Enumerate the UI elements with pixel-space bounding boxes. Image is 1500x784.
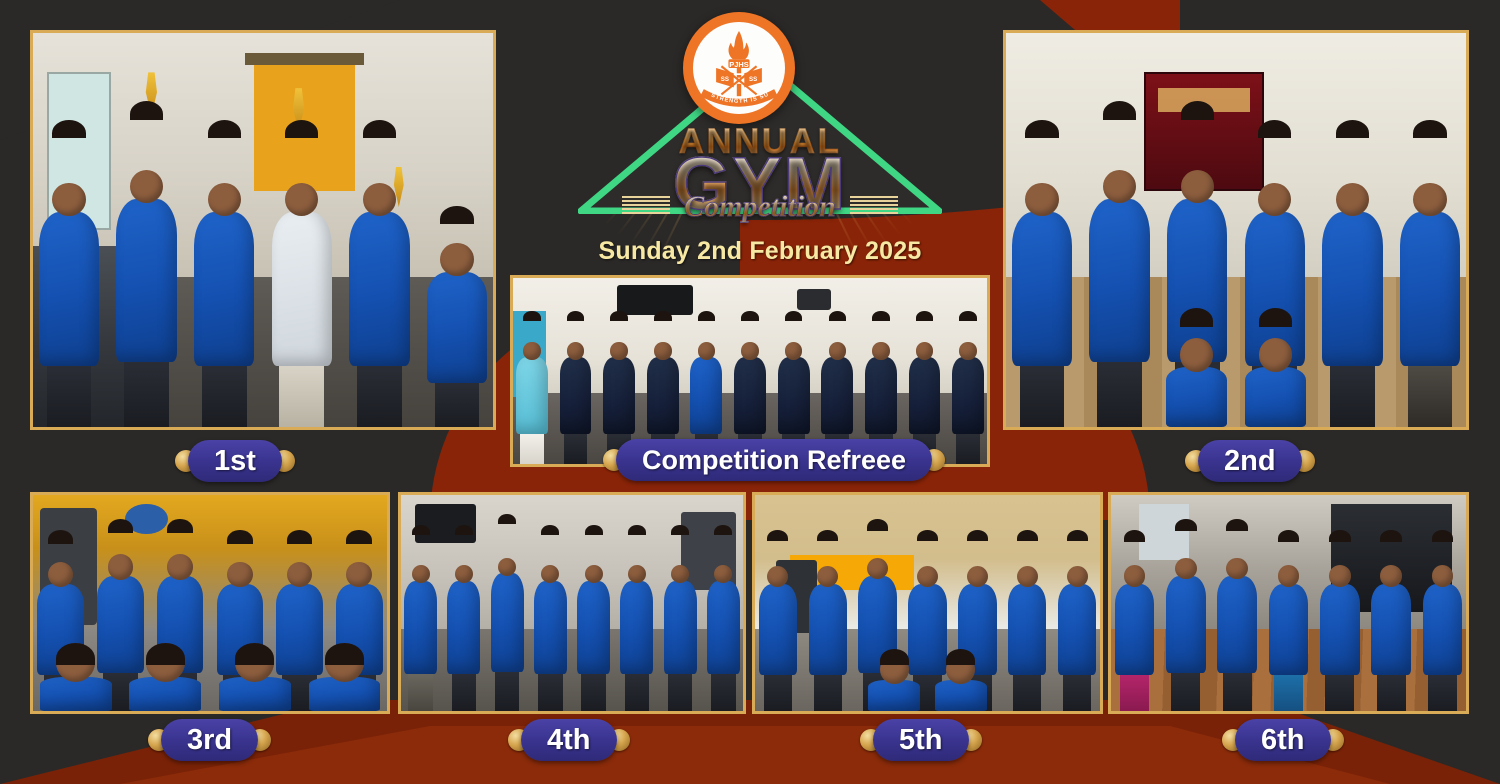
ribbon-first-place[interactable]: 1st bbox=[175, 440, 295, 482]
ribbon-second-place[interactable]: 2nd bbox=[1185, 440, 1315, 482]
photo-fifth-place-image bbox=[755, 495, 1100, 711]
svg-text:SS: SS bbox=[721, 76, 729, 83]
photo-sixth-place-image bbox=[1111, 495, 1466, 711]
school-crest-seal: PJHS SS SS bbox=[683, 12, 795, 124]
ribbon-sixth-place[interactable]: 6th bbox=[1222, 719, 1344, 761]
ribbon-label: 5th bbox=[899, 726, 943, 755]
ribbon-label: 2nd bbox=[1224, 447, 1276, 476]
svg-text:SS: SS bbox=[749, 76, 757, 83]
photo-third-place[interactable] bbox=[30, 492, 390, 714]
ribbon-label: 6th bbox=[1261, 726, 1305, 755]
poster-canvas: PJHS SS SS bbox=[0, 0, 1500, 784]
event-logo-block: PJHS SS SS bbox=[560, 0, 960, 270]
ribbon-third-place[interactable]: 3rd bbox=[148, 719, 271, 761]
ribbon-pill[interactable]: 5th bbox=[873, 719, 969, 761]
ribbon-pill[interactable]: Competition Refreee bbox=[616, 439, 932, 481]
crest-inner: PJHS SS SS bbox=[693, 22, 785, 114]
photo-first-place-image bbox=[33, 33, 493, 427]
ribbon-fifth-place[interactable]: 5th bbox=[860, 719, 982, 761]
ribbon-pill[interactable]: 1st bbox=[188, 440, 282, 482]
event-date: Sunday 2nd February 2025 bbox=[560, 237, 960, 266]
photo-second-place-image bbox=[1006, 33, 1466, 427]
ribbon-fourth-place[interactable]: 4th bbox=[508, 719, 630, 761]
ribbon-label: 4th bbox=[547, 726, 591, 755]
svg-text:PJHS: PJHS bbox=[729, 60, 749, 69]
ribbon-pill[interactable]: 6th bbox=[1235, 719, 1331, 761]
photo-second-place[interactable] bbox=[1003, 30, 1469, 430]
title-competition: Competition bbox=[560, 190, 960, 224]
ribbon-pill[interactable]: 3rd bbox=[161, 719, 258, 761]
photo-referee-image bbox=[513, 278, 987, 464]
ribbon-label: 3rd bbox=[187, 726, 232, 755]
photo-sixth-place[interactable] bbox=[1108, 492, 1469, 714]
ribbon-label: 1st bbox=[214, 447, 256, 476]
photo-fifth-place[interactable] bbox=[752, 492, 1103, 714]
torch-flame-crest-icon: PJHS SS SS bbox=[695, 24, 783, 112]
photo-fourth-place-image bbox=[401, 495, 743, 711]
ribbon-pill[interactable]: 4th bbox=[521, 719, 617, 761]
photo-first-place[interactable] bbox=[30, 30, 496, 430]
ribbon-referee[interactable]: Competition Refreee bbox=[603, 439, 945, 481]
photo-third-place-image bbox=[33, 495, 387, 711]
ribbon-label: Competition Refreee bbox=[642, 447, 906, 474]
photo-fourth-place[interactable] bbox=[398, 492, 746, 714]
ribbon-pill[interactable]: 2nd bbox=[1198, 440, 1302, 482]
